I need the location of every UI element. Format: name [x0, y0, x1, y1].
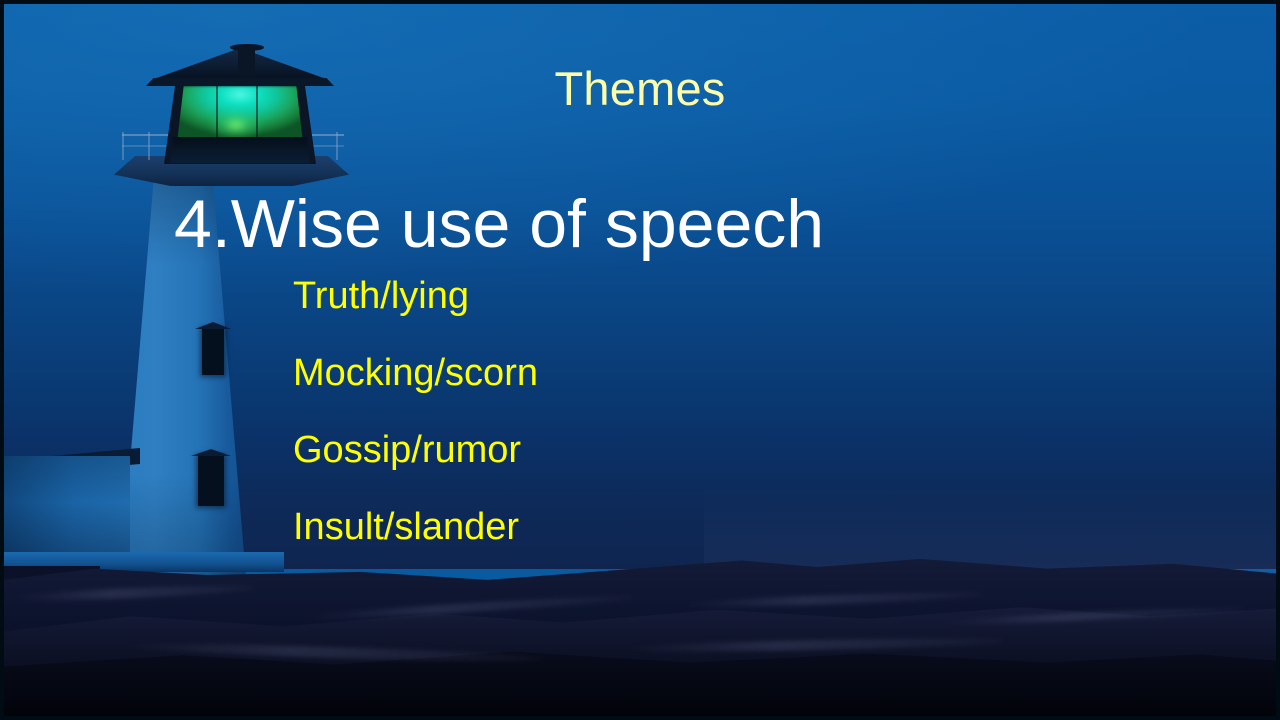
rocky-foreground: [4, 536, 1276, 716]
main-heading: 4.Wise use of speech: [174, 189, 824, 260]
list-item: Truth/lying: [293, 277, 538, 315]
slide-title: Themes: [4, 64, 1276, 113]
list-item: Mocking/scorn: [293, 354, 538, 392]
tower-window-upper: [202, 329, 224, 375]
lantern-lower-band: [170, 137, 310, 163]
list-item: Insult/slander: [293, 508, 538, 546]
presentation-slide: Themes 4.Wise use of speech Truth/lying …: [0, 0, 1280, 720]
tower-window-lower: [198, 456, 224, 506]
topic-list: Truth/lying Mocking/scorn Gossip/rumor I…: [293, 277, 538, 546]
list-item: Gossip/rumor: [293, 431, 538, 469]
